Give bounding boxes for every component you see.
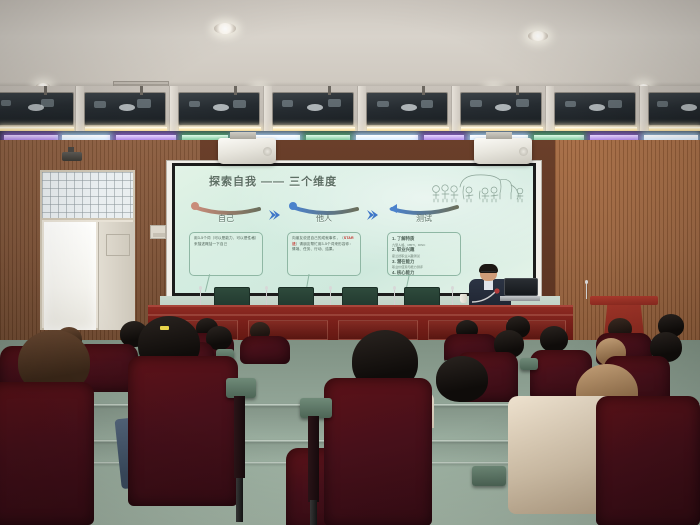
open-door-gap [44, 222, 96, 330]
stage-microphone [200, 289, 201, 305]
ceiling-panel [178, 92, 260, 126]
textbox-paragraph: 用3-5个词（可以是能力、可以是性格）来描述概括一下自己 [194, 236, 258, 247]
ceiling-panel [0, 92, 74, 126]
list-item: 4. 核心能力能力四象限 [392, 270, 456, 276]
seat-armrest-front [226, 378, 256, 398]
callout-tail [205, 274, 210, 292]
stage-chair [404, 287, 440, 307]
seat-front-row[interactable] [0, 382, 94, 525]
audience-head [540, 326, 568, 352]
slide-textbox-self: 用3-5个词（可以是能力、可以是性格）来描述概括一下自己 [189, 232, 263, 276]
hair-clip [160, 326, 169, 330]
door-leaf[interactable] [98, 222, 135, 330]
ceiling-panel-band [0, 86, 700, 136]
seat-armrest-front [472, 466, 506, 486]
stage-microphone [266, 289, 267, 305]
list-item: 1. 了解特质九型人格、MBTI、DISC [392, 236, 456, 247]
seat-back-row[interactable] [240, 336, 290, 364]
ceiling-downlight [528, 31, 548, 41]
panel-hanger [422, 86, 425, 95]
seat-armrest-front [300, 398, 332, 418]
ceiling-divider [357, 86, 366, 134]
ceiling-panel [648, 92, 700, 126]
stage-microphone [394, 289, 395, 305]
panel-hanger [234, 86, 237, 95]
projector-lens-icon [519, 147, 528, 156]
seat-arm-post [308, 416, 319, 502]
stage-microphone [452, 289, 453, 305]
transom-lattice-window [42, 172, 133, 220]
node-label: 自己 [189, 213, 263, 224]
node-label: 他人 [287, 213, 361, 224]
panel-hanger [44, 86, 47, 95]
slide-node-others: 他人 [287, 201, 361, 227]
seat-leg [236, 478, 243, 522]
ceiling-panel [272, 92, 354, 126]
stage-chair [214, 287, 250, 307]
ceiling-panel [366, 92, 448, 126]
textbox-paragraph: 向朋友说述自己的成就事件，（STAR法）请朋友帮忙用3-5个词来形容你：情境、任… [292, 236, 356, 253]
ceiling-projector-left [218, 138, 276, 164]
slide-node-test: 测试 [387, 201, 461, 227]
slide-textbox-test: 1. 了解特质九型人格、MBTI、DISC 2. 职业兴趣霍兰德职业兴趣测试 3… [387, 232, 461, 276]
panel-hanger [140, 86, 143, 95]
panel-hanger [516, 86, 519, 95]
ceiling-panel [460, 92, 542, 126]
ceiling-divider [639, 86, 648, 134]
slide-textbox-others: 向朋友说述自己的成就事件，（STAR法）请朋友帮忙用3-5个词来形容你：情境、任… [287, 232, 361, 276]
ceiling-divider [169, 86, 178, 134]
chevron-right-icon [365, 208, 379, 222]
stage-chair [278, 287, 314, 307]
lectern-top [590, 296, 658, 305]
seat-arm-post [234, 396, 245, 478]
projector-lens-icon [263, 147, 272, 156]
doorway[interactable] [40, 170, 135, 330]
panel-hanger [328, 86, 331, 95]
stage-chair [342, 287, 378, 307]
seat-armrest [520, 358, 538, 370]
seat-front-row[interactable] [128, 356, 238, 506]
ceiling-panel [84, 92, 166, 126]
wall-projector-mount [62, 152, 82, 161]
ceiling-divider [75, 86, 84, 134]
node-label: 测试 [387, 213, 461, 224]
seat-front-row[interactable] [596, 396, 700, 525]
audience-head-front [436, 356, 488, 402]
ceiling-divider [263, 86, 272, 134]
slide-title: 探索自我 —— 三个维度 [209, 173, 337, 189]
seat-front-row[interactable] [324, 378, 432, 525]
chevron-right-icon [267, 208, 281, 222]
list-item: 3. 潜在能力职业价值观与能力测评 [392, 259, 456, 270]
stage-microphone [330, 289, 331, 305]
ceiling-downlight [214, 23, 236, 34]
ceiling-divider [545, 86, 554, 134]
test-list: 1. 了解特质九型人格、MBTI、DISC 2. 职业兴趣霍兰德职业兴趣测试 3… [392, 236, 456, 276]
blind-men-and-elephant-icon [428, 169, 526, 203]
ceiling-projector-right [474, 138, 532, 164]
glasses-icon [481, 271, 496, 274]
light-switch-plate[interactable] [150, 225, 166, 239]
lecture-hall-photo: 探索自我 —— 三个维度 [0, 0, 700, 525]
ceiling-surface [0, 0, 700, 92]
ceiling-panel [554, 92, 636, 126]
presenter-laptop [500, 278, 540, 302]
lectern-microphone [586, 283, 587, 299]
slide-node-self: 自己 [189, 201, 263, 227]
laptop-keyboard [500, 296, 540, 301]
list-item: 2. 职业兴趣霍兰德职业兴趣测试 [392, 247, 456, 258]
laptop-screen [504, 278, 538, 296]
ceiling-divider [451, 86, 460, 134]
paper-cup [460, 294, 467, 303]
seat-leg [310, 500, 317, 525]
